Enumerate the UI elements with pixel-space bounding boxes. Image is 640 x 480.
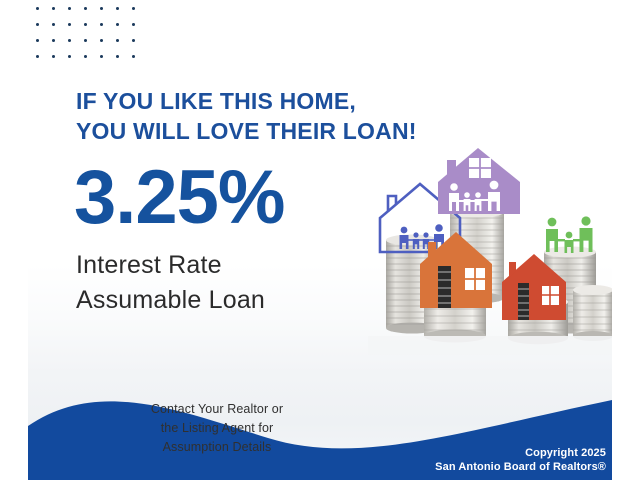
copyright-line-2: San Antonio Board of Realtors®	[435, 460, 606, 474]
grid-dot	[116, 7, 119, 10]
grid-dot	[100, 7, 103, 10]
grid-dot	[84, 7, 87, 10]
grid-dot	[68, 39, 71, 42]
grid-dot	[100, 39, 103, 42]
grid-dot	[100, 55, 103, 58]
grid-dot	[116, 23, 119, 26]
grid-dot	[36, 55, 39, 58]
grid-dot	[132, 39, 135, 42]
grid-dot	[52, 23, 55, 26]
grid-dot	[132, 7, 135, 10]
grid-dot	[36, 39, 39, 42]
flyer-canvas: IF YOU LIKE THIS HOME, YOU WILL LOVE THE…	[0, 0, 640, 480]
copyright-block: Copyright 2025 San Antonio Board of Real…	[435, 446, 606, 474]
rate-description-line-2: Assumable Loan	[76, 283, 265, 318]
grid-dot	[132, 23, 135, 26]
grid-dot	[84, 23, 87, 26]
grid-dot	[68, 7, 71, 10]
grid-dot	[84, 55, 87, 58]
contact-line-3: Assumption Details	[102, 438, 332, 457]
grid-dot	[68, 23, 71, 26]
grid-dot	[116, 55, 119, 58]
headline: IF YOU LIKE THIS HOME, YOU WILL LOVE THE…	[76, 86, 496, 146]
dot-grid-decoration	[36, 7, 140, 59]
grid-dot	[132, 55, 135, 58]
grid-dot	[36, 23, 39, 26]
coin-stack-6	[573, 285, 612, 341]
house-purple	[438, 148, 520, 214]
grid-dot	[52, 55, 55, 58]
flyer-artboard: IF YOU LIKE THIS HOME, YOU WILL LOVE THE…	[28, 0, 612, 480]
contact-instructions: Contact Your Realtor or the Listing Agen…	[102, 400, 332, 457]
rate-description: Interest Rate Assumable Loan	[76, 248, 265, 318]
rate-description-line-1: Interest Rate	[76, 248, 265, 283]
grid-dot	[68, 55, 71, 58]
grid-dot	[116, 39, 119, 42]
houses-on-coin-stacks-illustration	[368, 140, 612, 355]
grid-dot	[100, 23, 103, 26]
grid-dot	[84, 39, 87, 42]
headline-line-1: IF YOU LIKE THIS HOME,	[76, 86, 496, 116]
copyright-line-1: Copyright 2025	[435, 446, 606, 460]
grid-dot	[52, 39, 55, 42]
contact-line-1: Contact Your Realtor or	[102, 400, 332, 419]
interest-rate-value: 3.25%	[74, 160, 285, 236]
contact-line-2: the Listing Agent for	[102, 419, 332, 438]
grid-dot	[52, 7, 55, 10]
grid-dot	[36, 7, 39, 10]
